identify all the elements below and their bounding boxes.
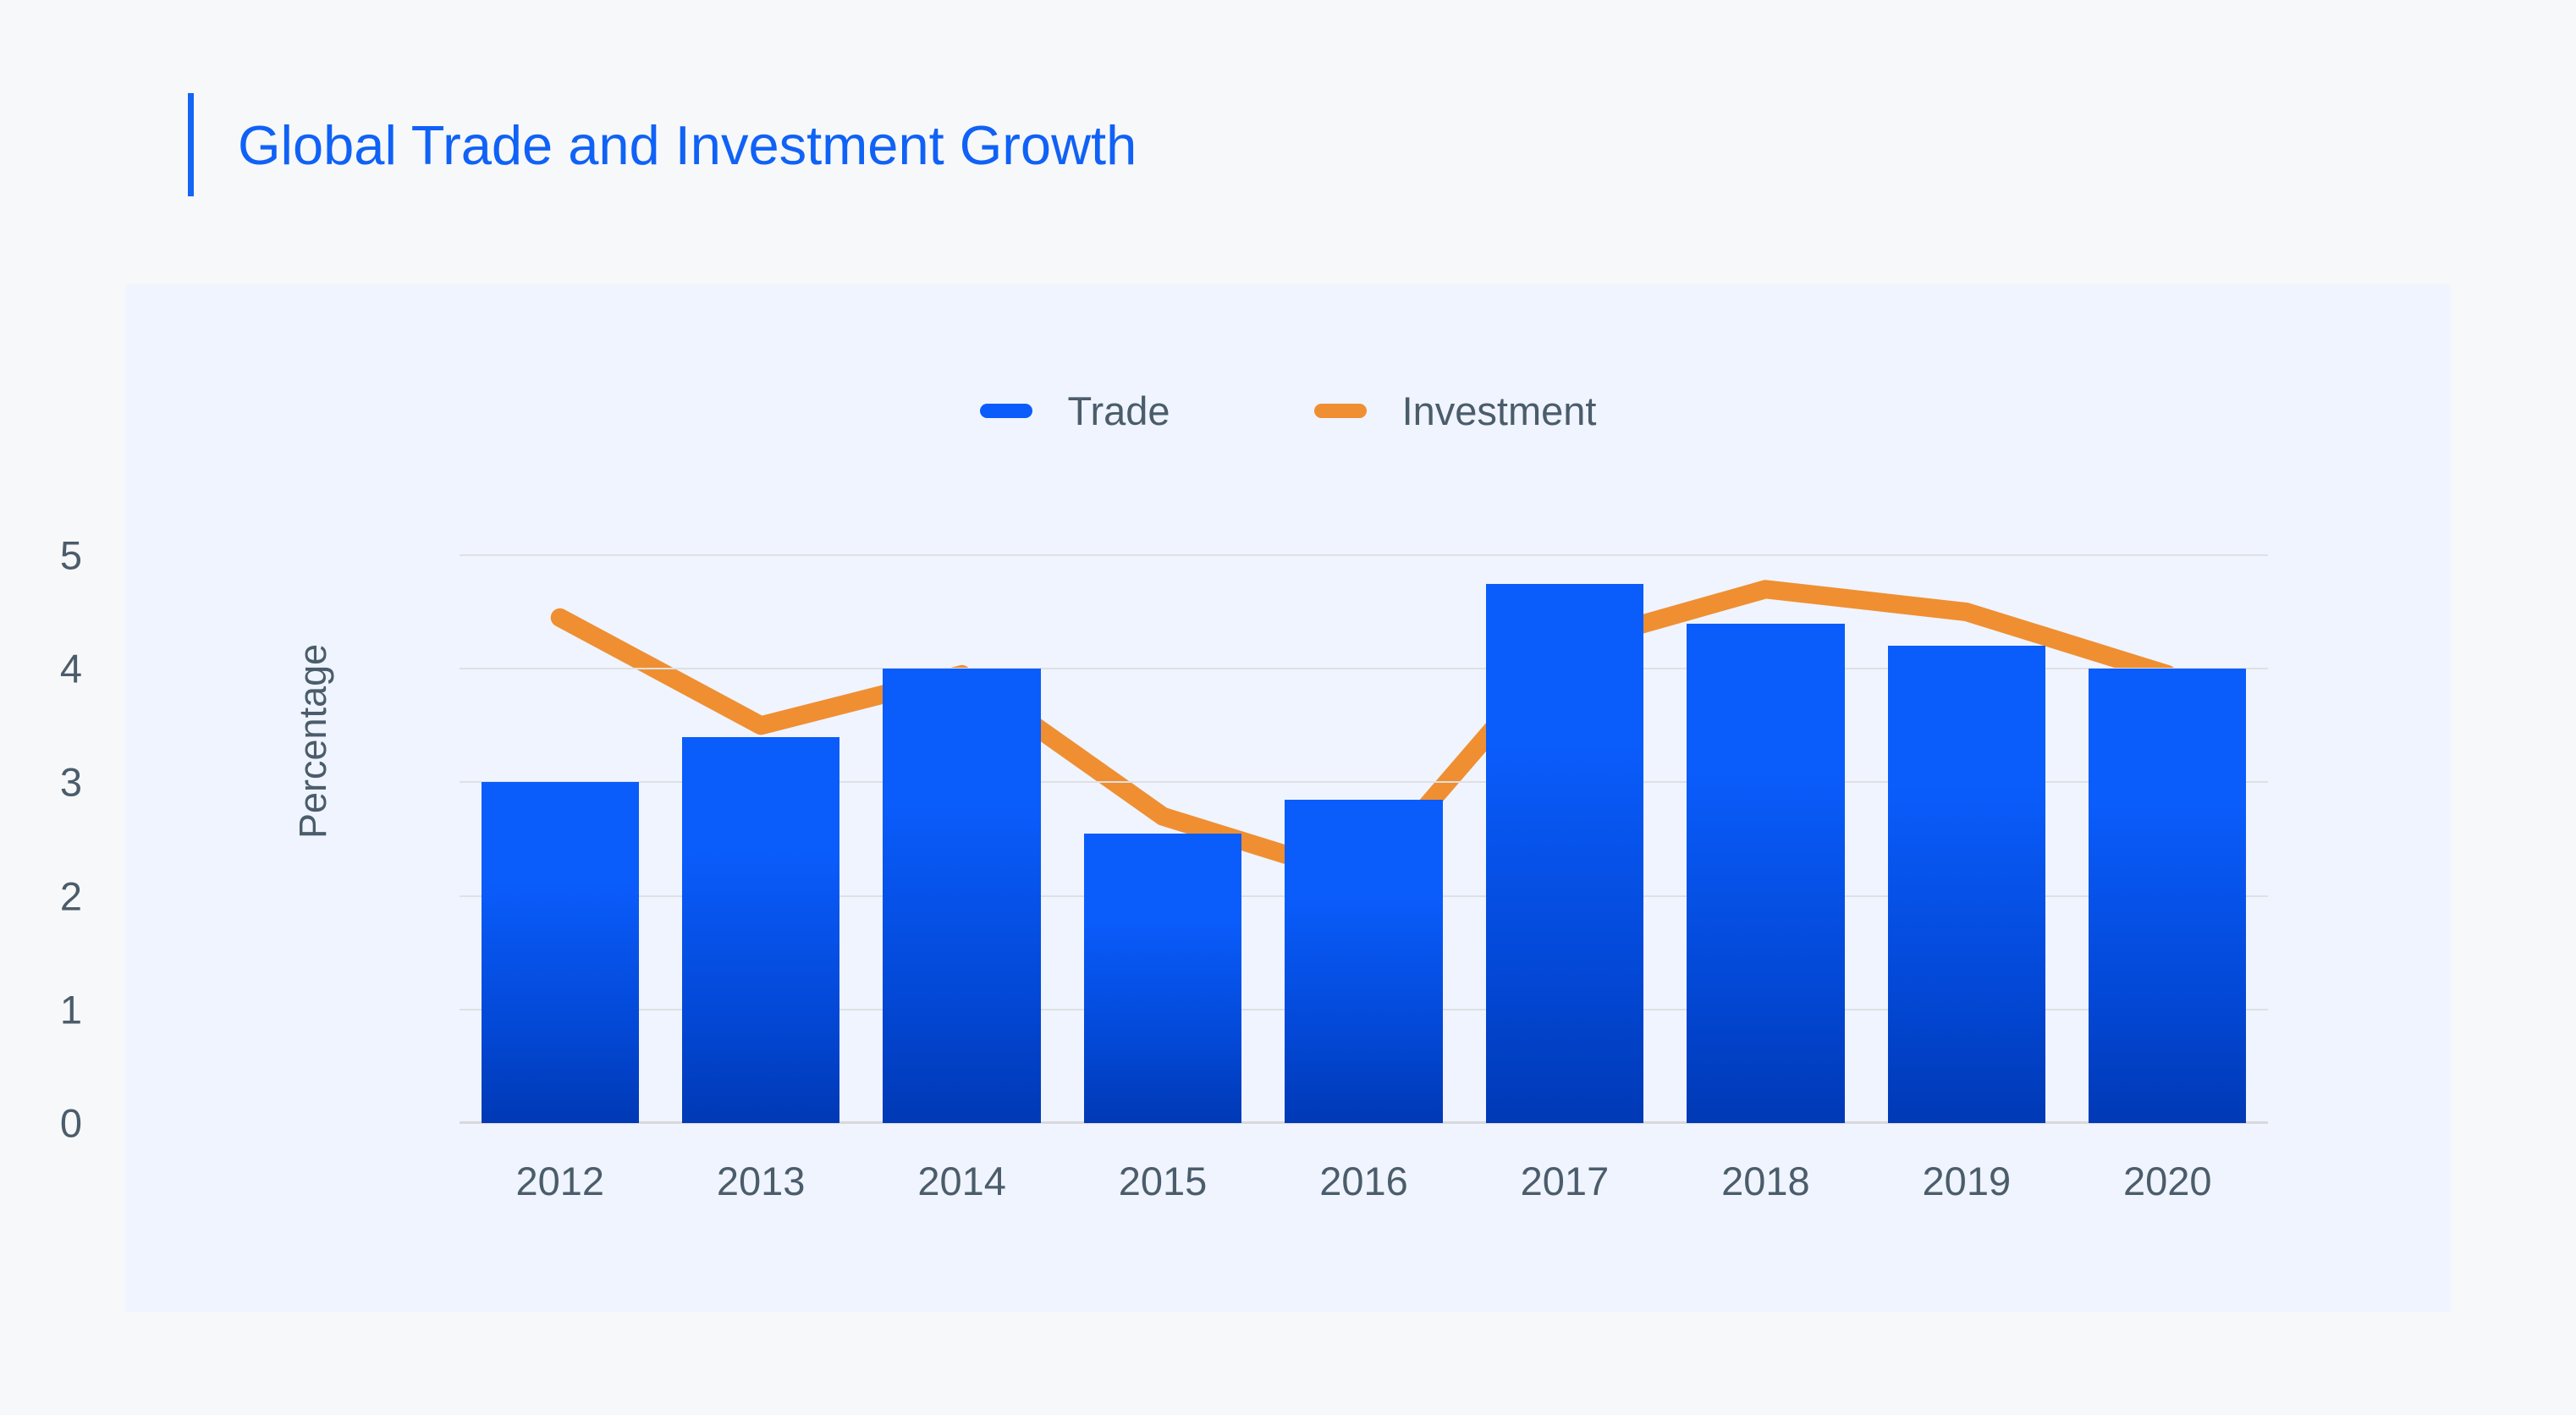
bar-2020[interactable] xyxy=(2089,669,2246,1123)
x-axis-tick-label: 2016 xyxy=(1319,1158,1408,1204)
x-axis-tick-label: 2014 xyxy=(917,1158,1006,1204)
x-axis-tick-label: 2020 xyxy=(2123,1158,2212,1204)
legend-label-trade: Trade xyxy=(1068,391,1170,431)
y-axis-tick-label: 4 xyxy=(60,646,82,692)
gridline xyxy=(460,554,2268,556)
x-axis-tick-label: 2018 xyxy=(1721,1158,1810,1204)
x-axis-tick-label: 2015 xyxy=(1119,1158,1208,1204)
x-axis-tick-label: 2013 xyxy=(717,1158,806,1204)
bar-2013[interactable] xyxy=(682,737,839,1123)
x-axis-tick-label: 2019 xyxy=(1923,1158,2012,1204)
plot-area: 0123452012201320142015201620172018201920… xyxy=(460,555,2268,1123)
legend-label-investment: Investment xyxy=(1402,391,1597,431)
page-title-text: Global Trade and Investment Growth xyxy=(238,118,1137,173)
chart-legend: Trade Investment xyxy=(125,391,2451,431)
y-axis-tick-label: 3 xyxy=(60,759,82,806)
legend-item-trade[interactable]: Trade xyxy=(980,391,1170,431)
page-title: Global Trade and Investment Growth xyxy=(188,93,1137,196)
bar-2012[interactable] xyxy=(482,782,639,1123)
chart-page: Global Trade and Investment Growth Trade… xyxy=(0,0,2576,1415)
y-axis-tick-label: 1 xyxy=(60,986,82,1032)
bar-2019[interactable] xyxy=(1888,646,2045,1123)
legend-swatch-investment-icon xyxy=(1314,404,1367,418)
y-axis-tick-label: 5 xyxy=(60,532,82,579)
title-accent-bar xyxy=(188,93,194,196)
y-axis-tick-label: 2 xyxy=(60,873,82,919)
legend-item-investment[interactable]: Investment xyxy=(1314,391,1597,431)
x-axis-tick-label: 2017 xyxy=(1521,1158,1610,1204)
bar-2018[interactable] xyxy=(1687,624,1844,1123)
bar-2017[interactable] xyxy=(1486,584,1643,1123)
bar-2016[interactable] xyxy=(1285,800,1442,1123)
y-axis-label: Percentage xyxy=(291,644,335,839)
bar-2014[interactable] xyxy=(883,669,1040,1123)
x-axis-tick-label: 2012 xyxy=(515,1158,604,1204)
y-axis-tick-label: 0 xyxy=(60,1100,82,1147)
legend-swatch-trade-icon xyxy=(980,404,1032,418)
bar-2015[interactable] xyxy=(1084,834,1241,1123)
chart-card: Trade Investment Percentage 012345201220… xyxy=(125,284,2451,1312)
